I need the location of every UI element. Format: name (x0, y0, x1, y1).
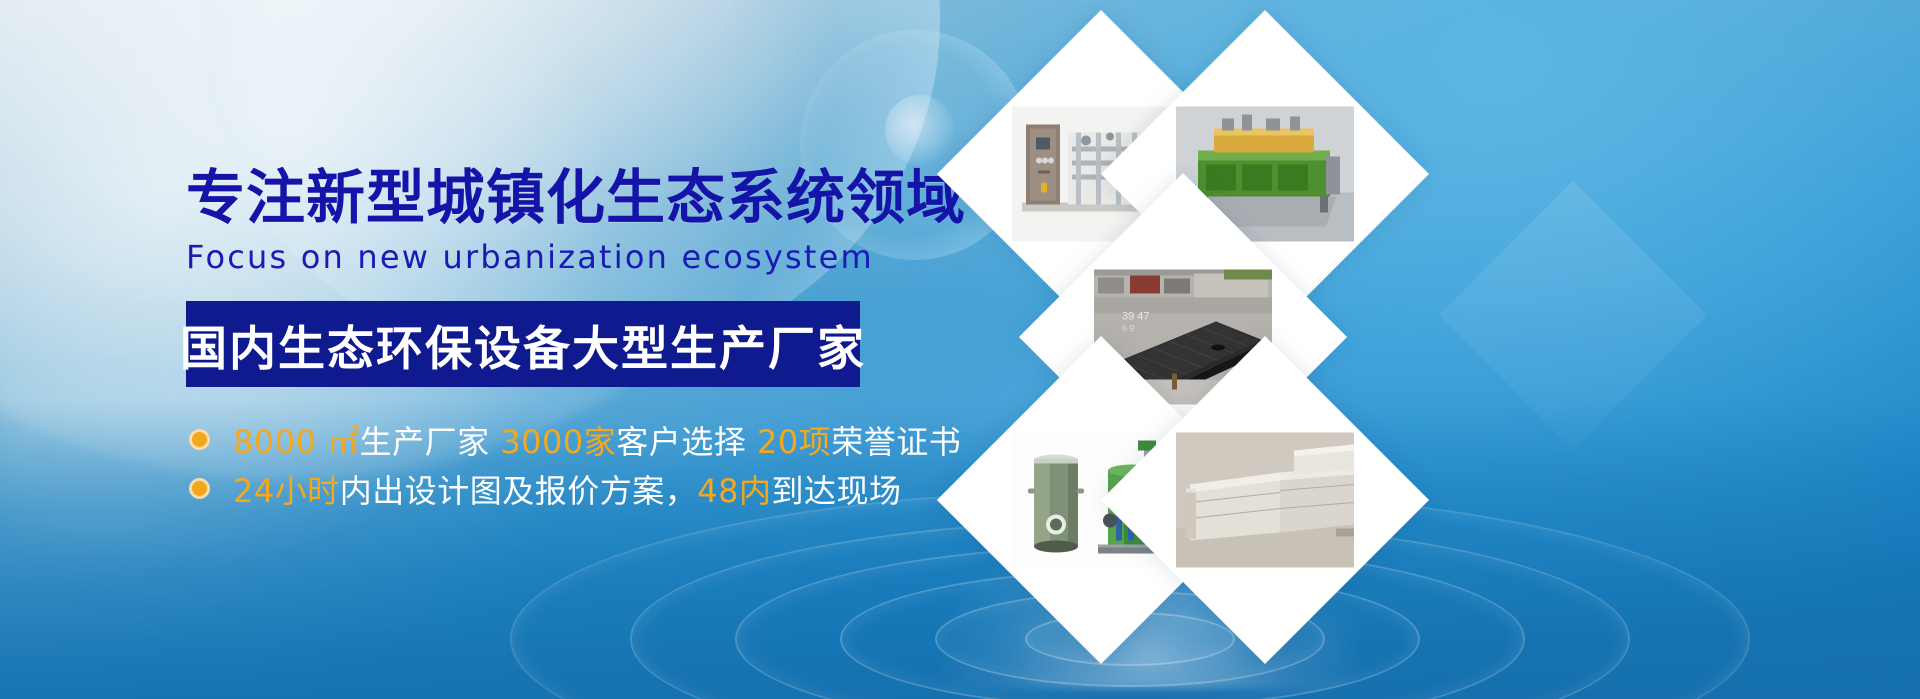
hero-banner: 专注新型城镇化生态系统领域 Focus on new urbanization … (0, 0, 1920, 699)
banner-highlight-box: 国内生态环保设备大型生产厂家 (186, 301, 860, 387)
bullet-plain-text: 客户选择 (616, 423, 757, 461)
bullet-plain-text: 内出设计图及报价方案， (340, 472, 698, 510)
product-diamond-collage: 39 47 6 9 (905, 58, 1325, 538)
bullet-plain-text: 到达现场 (771, 472, 901, 510)
banner-bullet-list: 8000 ㎡生产厂家 3000家客户选择 20项荣誉证书 24小时内出设计图及报… (186, 415, 886, 513)
bullet-plain-text: 生产厂家 (360, 423, 501, 461)
bullet-dot-icon (189, 429, 210, 450)
bullet-item: 24小时内出设计图及报价方案，48内到达现场 (186, 464, 886, 513)
banner-subheadline: Focus on new urbanization ecosystem (186, 241, 886, 273)
bullet-accent-text: 3000家 (500, 423, 616, 461)
bullet-text: 8000 ㎡生产厂家 3000家客户选择 20项荣誉证书 (233, 417, 961, 463)
bullet-text: 24小时内出设计图及报价方案，48内到达现场 (233, 466, 902, 512)
banner-text-block: 专注新型城镇化生态系统领域 Focus on new urbanization … (186, 168, 886, 513)
bullet-dot-icon (189, 478, 210, 499)
bullet-accent-text: 20项 (757, 423, 831, 461)
bullet-accent-text: 24小时 (233, 472, 340, 510)
bullet-accent-text: 48内 (697, 472, 771, 510)
banner-headline: 专注新型城镇化生态系统领域 (186, 168, 886, 227)
bullet-item: 8000 ㎡生产厂家 3000家客户选择 20项荣誉证书 (186, 415, 886, 464)
svg-text:6 9: 6 9 (1122, 324, 1135, 334)
stacked-concrete-panels-photo (1176, 433, 1354, 568)
diamond-edge-decoration (1439, 181, 1708, 450)
banner-highlight-text: 国内生态环保设备大型生产厂家 (180, 310, 866, 379)
svg-text:39 47: 39 47 (1122, 311, 1150, 323)
bullet-accent-text: 8000 ㎡ (233, 423, 360, 461)
